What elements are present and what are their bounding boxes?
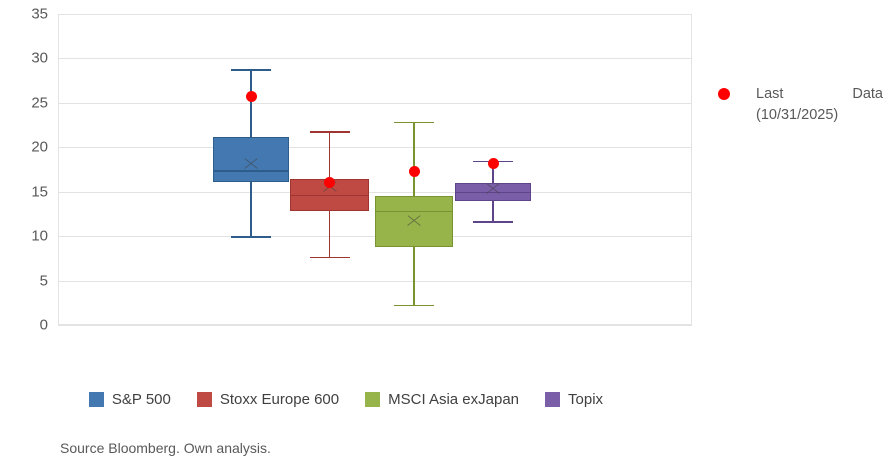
- legend-item[interactable]: S&P 500: [89, 391, 171, 408]
- gridline: [58, 325, 692, 326]
- y-tick-label: 20: [4, 140, 48, 155]
- box-plot-series[interactable]: [455, 14, 531, 325]
- y-axis: 05101520253035: [0, 14, 48, 325]
- lower-whisker-cap: [231, 236, 271, 238]
- upper-whisker: [413, 122, 415, 197]
- y-tick-label: 10: [4, 229, 48, 244]
- lower-whisker: [413, 247, 415, 305]
- last-data-legend: Last Data (10/31/2025): [718, 84, 883, 126]
- lower-whisker: [329, 211, 331, 256]
- lower-whisker-cap: [394, 305, 434, 307]
- box-plot-series[interactable]: [290, 14, 369, 325]
- upper-whisker-cap: [231, 69, 271, 71]
- y-tick-label: 30: [4, 51, 48, 66]
- plot-area: [58, 14, 692, 325]
- lower-whisker: [250, 182, 252, 236]
- mean-marker-icon: [485, 180, 501, 196]
- y-tick-label: 0: [4, 318, 48, 333]
- series-legend: S&P 500Stoxx Europe 600MSCI Asia exJapan…: [0, 391, 692, 408]
- legend-label: MSCI Asia exJapan: [388, 391, 519, 408]
- y-tick-label: 25: [4, 95, 48, 110]
- legend-item[interactable]: MSCI Asia exJapan: [365, 391, 519, 408]
- median-line: [290, 195, 369, 196]
- legend-swatch-icon: [197, 392, 212, 407]
- lower-whisker-cap: [310, 257, 350, 259]
- red-dot-icon: [718, 88, 730, 100]
- lower-whisker: [492, 201, 494, 221]
- y-tick-label: 5: [4, 273, 48, 288]
- last-data-dot[interactable]: [409, 166, 420, 177]
- last-data-dot[interactable]: [246, 91, 257, 102]
- legend-swatch-icon: [365, 392, 380, 407]
- source-note: Source Bloomberg. Own analysis.: [60, 440, 271, 456]
- legend-label: S&P 500: [112, 391, 171, 408]
- legend-label: Stoxx Europe 600: [220, 391, 339, 408]
- mean-marker-icon: [406, 212, 422, 228]
- upper-whisker: [250, 69, 252, 137]
- upper-whisker-cap: [310, 131, 350, 133]
- upper-whisker: [329, 131, 331, 179]
- last-data-legend-text: Last Data (10/31/2025): [756, 84, 883, 126]
- box-plot-series[interactable]: [375, 14, 453, 325]
- upper-whisker-cap: [394, 122, 434, 124]
- last-data-dot[interactable]: [488, 158, 499, 169]
- legend-label: Topix: [568, 391, 603, 408]
- last-label: Last: [756, 84, 783, 105]
- box-plot-series[interactable]: [213, 14, 289, 325]
- box-plot-chart: 05101520253035 Last Data (10/31/2025) S&…: [0, 0, 885, 473]
- legend-item[interactable]: Stoxx Europe 600: [197, 391, 339, 408]
- y-tick-label: 15: [4, 184, 48, 199]
- y-tick-label: 35: [4, 7, 48, 22]
- legend-swatch-icon: [89, 392, 104, 407]
- legend-swatch-icon: [545, 392, 560, 407]
- lower-whisker-cap: [473, 221, 513, 223]
- mean-marker-icon: [243, 155, 259, 171]
- legend-item[interactable]: Topix: [545, 391, 603, 408]
- last-data-date: (10/31/2025): [756, 107, 838, 123]
- data-label: Data: [852, 84, 883, 105]
